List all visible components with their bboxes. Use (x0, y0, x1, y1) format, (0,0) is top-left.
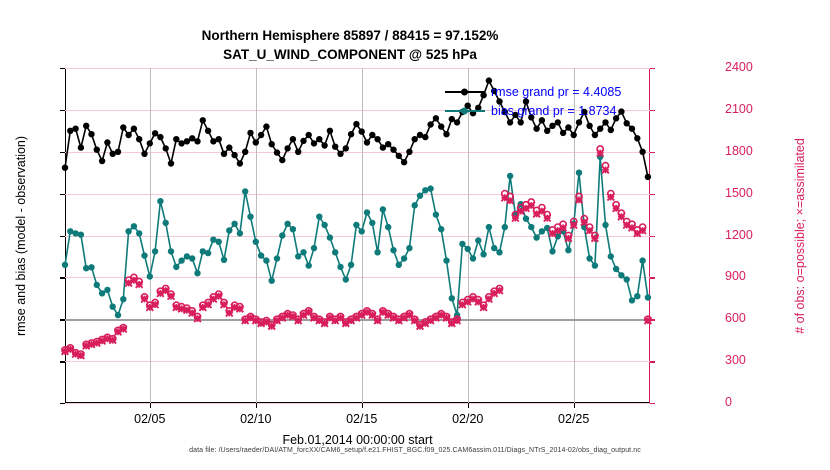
right-axis-tick-mark (650, 277, 655, 278)
chart-title: Northern Hemisphere 85897 / 88415 = 97.1… (0, 26, 700, 64)
right-axis-tick-mark (650, 110, 655, 111)
x-axis-tick-mark (468, 403, 469, 408)
right-axis-tick-label: 1800 (725, 144, 777, 158)
left-axis-tick-mark (60, 68, 65, 69)
right-axis-tick-label: 1500 (725, 186, 777, 200)
right-axis-tick-mark (650, 194, 655, 195)
right-axis-tick-mark (650, 403, 655, 404)
x-axis-tick-label: 02/15 (327, 412, 397, 426)
right-axis-tick-mark (650, 319, 655, 320)
data-file-footer: data file: /Users/raeder/DAI/ATM_forcXX/… (0, 447, 830, 454)
right-axis-tick-mark (650, 68, 655, 69)
legend-label-rmse: rmse grand pr = 4.4085 (491, 85, 621, 99)
x-axis-tick-mark (362, 403, 363, 408)
left-axis-tick-mark (60, 403, 65, 404)
x-axis-tick-label: 02/20 (433, 412, 503, 426)
series-o (62, 154, 651, 319)
chart-title-line-1: Northern Hemisphere 85897 / 88415 = 97.1… (0, 26, 700, 45)
series-x (62, 150, 652, 359)
right-axis-tick-mark (650, 361, 655, 362)
right-axis-tick-label: 300 (725, 353, 777, 367)
right-axis-tick-label: 600 (725, 311, 777, 325)
x-axis-tick-mark (574, 403, 575, 408)
legend-label-bias: bias grand pr = 1.8734 (491, 104, 616, 118)
series-o-open (62, 146, 651, 357)
right-axis-tick-label: 1200 (725, 228, 777, 242)
right-axis-tick-mark (650, 236, 655, 237)
right-axis-tick-label: 0 (725, 395, 777, 409)
gridline-horizontal (65, 403, 650, 404)
plot-area: -2-10123456 0300600900120015001800210024… (65, 68, 650, 403)
x-axis-tick-label: 02/05 (115, 412, 185, 426)
x-axis-tick-mark (150, 403, 151, 408)
x-axis-label: Feb.01,2014 00:00:00 start (65, 433, 650, 447)
right-axis-tick-label: 2400 (725, 60, 777, 74)
legend-line-bias-icon (445, 110, 485, 112)
observation-diagnostics-figure: Northern Hemisphere 85897 / 88415 = 97.1… (0, 0, 830, 470)
chart-title-line-2: SAT_U_WIND_COMPONENT @ 525 hPa (0, 45, 700, 64)
left-axis-tick-mark (60, 152, 65, 153)
left-axis-tick-mark (60, 110, 65, 111)
legend-item-bias: bias grand pr = 1.8734 (445, 101, 621, 120)
right-axis-tick-label: 900 (725, 269, 777, 283)
right-axis-tick-mark (650, 152, 655, 153)
legend: rmse grand pr = 4.4085 bias grand pr = 1… (445, 82, 621, 120)
legend-item-rmse: rmse grand pr = 4.4085 (445, 82, 621, 101)
left-axis-tick-mark (60, 319, 65, 320)
right-axis-label: # of obs: o=possible; ×=assimilated (793, 138, 807, 334)
x-axis-tick-label: 02/10 (221, 412, 291, 426)
x-axis-tick-label: 02/25 (539, 412, 609, 426)
left-axis-tick-mark (60, 361, 65, 362)
legend-line-rmse-icon (445, 91, 485, 93)
x-axis-tick-mark (256, 403, 257, 408)
right-axis-tick-label: 2100 (725, 102, 777, 116)
left-axis-tick-mark (60, 277, 65, 278)
left-axis-tick-mark (60, 236, 65, 237)
left-axis-tick-mark (60, 194, 65, 195)
left-axis-label: rmse and bias (model - observation) (14, 135, 28, 335)
